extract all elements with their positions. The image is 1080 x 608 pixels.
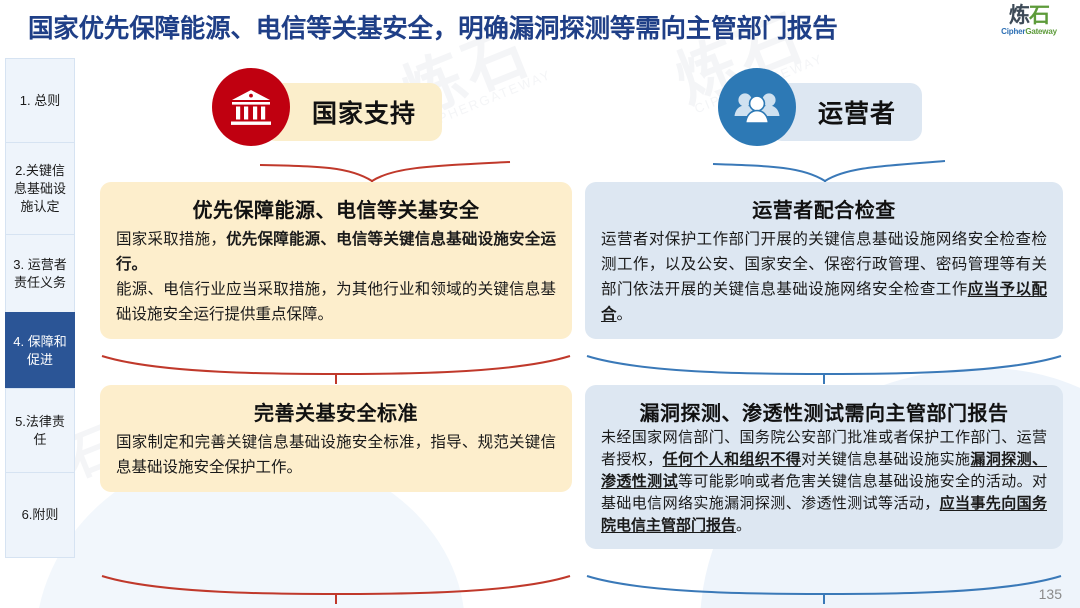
card-right-2-title: 漏洞探测、渗透性测试需向主管部门报告 [601,397,1047,426]
right-card-1-connector [585,352,1063,386]
logo-mark: 炼石 [986,5,1072,26]
card-left-1: 优先保障能源、电信等关基安全 国家采取措施，优先保障能源、电信等关键信息基础设施… [100,182,572,339]
sidebar-item-chapter-5[interactable]: 5.法律责任 [5,388,75,472]
left-column-badge: 国家支持 [212,83,442,141]
sidebar-item-chapter-1[interactable]: 1. 总则 [5,58,75,142]
card-right-2-p1-tail: 。 [736,517,751,534]
left-card-1-connector [100,352,574,386]
left-column-badge-label: 国家支持 [264,83,442,141]
brand-logo: 炼石 CipherGateway [986,5,1072,47]
card-left-1-body: 国家采取措施，优先保障能源、电信等关键信息基础设施安全运行。 能源、电信行业应当… [116,227,556,327]
sidebar-item-chapter-4[interactable]: 4. 保障和促进 [5,312,75,388]
card-right-1-body: 运营者对保护工作部门开展的关键信息基础设施网络安全检查检测工作，以及公安、国家安… [601,227,1047,327]
card-right-1: 运营者配合检查 运营者对保护工作部门开展的关键信息基础设施网络安全检查检测工作，… [585,182,1063,339]
sidebar-item-chapter-3[interactable]: 3. 运营者责任义务 [5,234,75,312]
users-group-icon [718,68,796,146]
right-badge-connector [585,150,1063,186]
card-right-1-p1-tail: 。 [617,306,633,323]
logo-mark-char-1: 炼 [1009,4,1029,27]
page-title: 国家优先保障能源、电信等关基安全，明确漏洞探测等需向主管部门报告 [28,8,968,45]
slide-root: 炼石 CIPHERGATEWAY 炼石 CIPHERGATEWAY 炼石 国家优… [0,0,1080,608]
card-right-2-body: 未经国家网信部门、国务院公安部门批准或者保护工作部门、运营者授权，任何个人和组织… [601,427,1047,537]
sidebar-item-chapter-2[interactable]: 2.关键信息基础设施认定 [5,142,75,234]
card-left-1-p1-plain: 国家采取措施， [116,231,226,248]
sidebar-item-chapter-6[interactable]: 6.附则 [5,472,75,558]
card-left-1-title: 优先保障能源、电信等关基安全 [116,194,556,223]
slide-header: 国家优先保障能源、电信等关基安全，明确漏洞探测等需向主管部门报告 炼石 Ciph… [0,0,1080,50]
logo-subtext: CipherGateway [986,28,1072,36]
card-right-2: 漏洞探测、渗透性测试需向主管部门报告 未经国家网信部门、国务院公安部门批准或者保… [585,385,1063,549]
right-column-badge: 运营者 [718,83,922,141]
logo-mark-char-2: 石 [1029,4,1049,27]
right-card-2-connector [585,572,1063,606]
page-number: 135 [1039,586,1062,602]
left-badge-connector [100,150,574,186]
card-left-2-title: 完善关基安全标准 [116,397,556,426]
card-left-2-body: 国家制定和完善关键信息基础设施安全标准，指导、规范关键信息基础设施安全保护工作。 [116,430,556,480]
chapter-sidebar[interactable]: 1. 总则 2.关键信息基础设施认定 3. 运营者责任义务 4. 保障和促进 5… [5,58,75,558]
card-right-1-title: 运营者配合检查 [601,194,1047,223]
logo-subtext-part-2: Gateway [1025,27,1057,36]
card-left-1-p2: 能源、电信行业应当采取措施，为其他行业和领域的关键信息基础设施安全运行提供重点保… [116,281,556,323]
card-right-2-p1-plain-2: 对关键信息基础设施实施 [801,451,970,468]
left-card-2-connector [100,572,574,606]
logo-subtext-part-1: Cipher [1001,27,1025,36]
card-right-2-p1-emphasis-1: 任何个人和组织不得 [663,451,802,468]
bank-icon [212,68,290,146]
card-left-2: 完善关基安全标准 国家制定和完善关键信息基础设施安全标准，指导、规范关键信息基础… [100,385,572,492]
card-left-2-p1: 国家制定和完善关键信息基础设施安全标准，指导、规范关键信息基础设施安全保护工作。 [116,434,556,476]
